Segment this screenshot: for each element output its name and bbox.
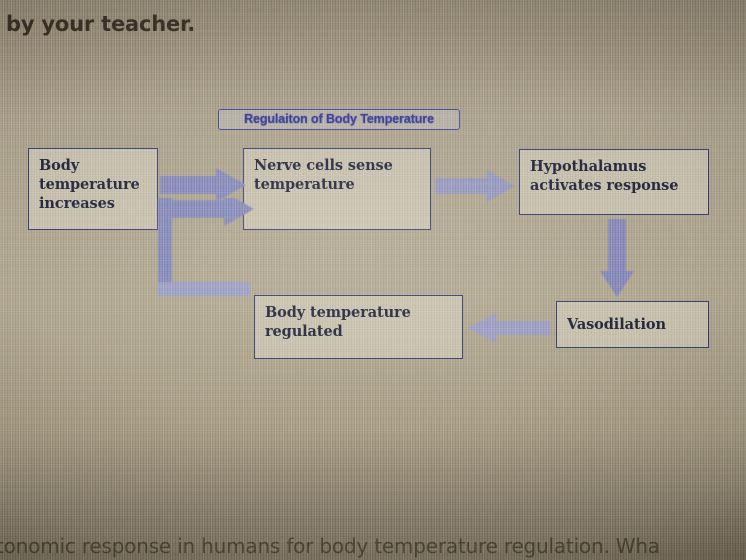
arrow-right-icon-nerve-to-hypothalamus <box>435 170 515 202</box>
arrow-right-icon-increase-to-nerve <box>160 168 246 202</box>
flow-box-nerve-cells-sense-temperature: Nerve cells sense temperature <box>243 148 431 230</box>
arrow-left-icon-vasodilation-to-regulated <box>468 313 550 343</box>
worksheet-bottom-text: tonomic response in humans for body temp… <box>0 534 660 558</box>
diagram-title: Regulaiton of Body Temperature <box>218 109 460 130</box>
arrow-down-icon-hypothalamus-to-vasodilation <box>600 219 634 297</box>
flow-box-body-temperature-increases: Body temperature increases <box>28 148 158 230</box>
body-temperature-flow-diagram: Regulaiton of Body Temperature Body temp… <box>0 64 746 512</box>
photographed-screen: by your teacher. Regulaiton of Body Temp… <box>0 0 746 560</box>
flow-box-hypothalamus-activates-response: Hypothalamus activates response <box>519 149 709 215</box>
flow-box-vasodilation: Vasodilation <box>556 301 709 348</box>
worksheet-top-text: by your teacher. <box>6 12 195 36</box>
arrow-feedback-loop-regulated-to-nerve <box>158 198 254 308</box>
flow-box-body-temperature-regulated: Body temperature regulated <box>254 295 463 359</box>
